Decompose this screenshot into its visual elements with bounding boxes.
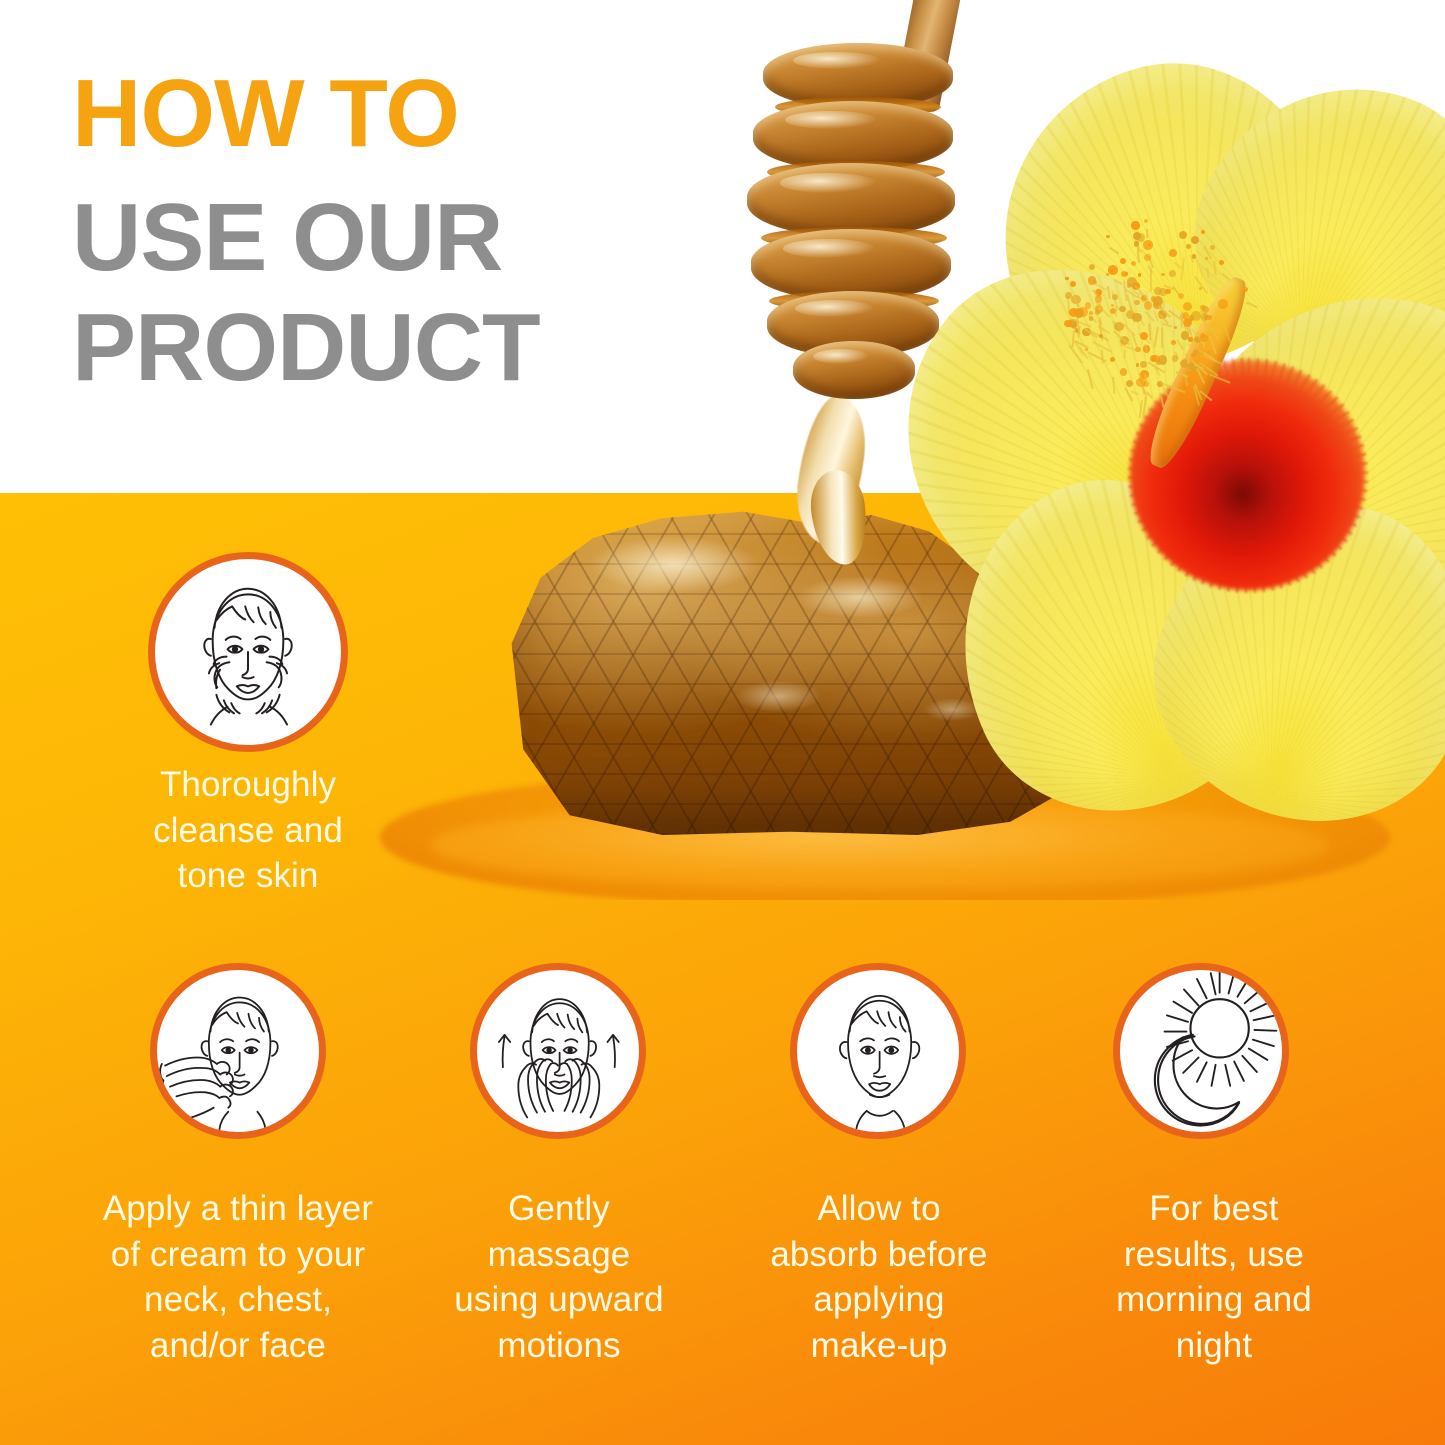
- step-3-icon-face-massage-upward-arrows-icon: [470, 963, 646, 1139]
- step-5-caption: For best results, use morning and night: [1080, 1186, 1348, 1368]
- step-5-caption-line-1: For best: [1080, 1186, 1348, 1232]
- step-5-caption-line-2: results, use: [1080, 1232, 1348, 1278]
- page-title-line-2: USE OUR: [72, 190, 502, 286]
- step-3-caption-line-1: Gently: [420, 1186, 698, 1232]
- step-2-icon-face-apply-cream-one-hand-icon: [150, 963, 326, 1139]
- step-5-icon-sun-and-moon-icon: [1113, 963, 1289, 1139]
- step-1-caption-line-2: cleanse and: [76, 808, 420, 854]
- step-2-caption: Apply a thin layer of cream to your neck…: [62, 1186, 414, 1368]
- step-1-icon-face-cleanse-two-hands-icon: [148, 552, 348, 752]
- step-3-caption-line-4: motions: [420, 1323, 698, 1369]
- page-title-line-1: HOW TO: [72, 66, 459, 162]
- step-3-caption-line-2: massage: [420, 1232, 698, 1278]
- step-4-caption-line-2: absorb before: [755, 1232, 1003, 1278]
- step-1-caption-line-3: tone skin: [76, 853, 420, 899]
- step-1-caption-line-1: Thoroughly: [76, 762, 420, 808]
- step-5-caption-line-3: morning and: [1080, 1277, 1348, 1323]
- step-2-caption-line-3: neck, chest,: [62, 1277, 414, 1323]
- step-5-caption-line-4: night: [1080, 1323, 1348, 1369]
- how-to-use-infographic: HOW TO USE OUR PRODUCT: [0, 0, 1445, 1445]
- flower-pollen-cluster: [1050, 210, 1260, 395]
- step-4-icon-face-plain-icon: [790, 963, 966, 1139]
- step-4-caption: Allow to absorb before applying make-up: [755, 1186, 1003, 1368]
- step-3-caption: Gently massage using upward motions: [420, 1186, 698, 1368]
- step-2-caption-line-4: and/or face: [62, 1323, 414, 1369]
- step-2-caption-line-1: Apply a thin layer: [62, 1186, 414, 1232]
- step-2-caption-line-2: of cream to your: [62, 1232, 414, 1278]
- step-4-caption-line-1: Allow to: [755, 1186, 1003, 1232]
- hibiscus-flower: [880, 60, 1445, 850]
- step-1-caption: Thoroughly cleanse and tone skin: [76, 762, 420, 899]
- step-4-caption-line-3: applying: [755, 1277, 1003, 1323]
- step-3-caption-line-3: using upward: [420, 1277, 698, 1323]
- page-title-line-3: PRODUCT: [72, 300, 540, 396]
- step-4-caption-line-4: make-up: [755, 1323, 1003, 1369]
